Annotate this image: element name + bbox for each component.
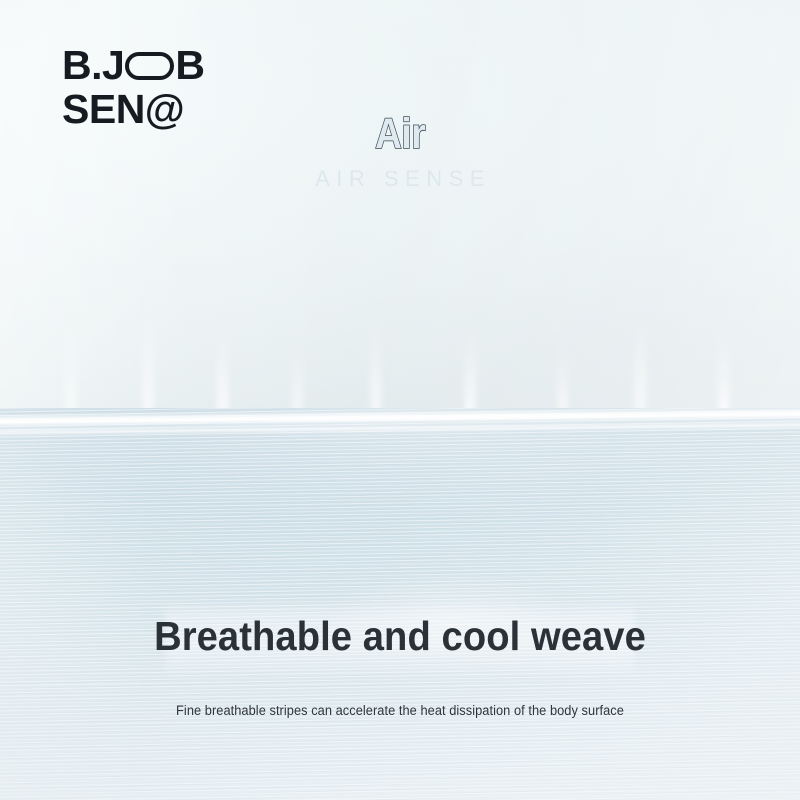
air-brandmark: Air AIR SENSE	[0, 110, 800, 192]
fabric-panel	[0, 408, 800, 800]
brand-logo-text-after: B	[175, 46, 204, 85]
subheadline-text: Fine breathable stripes can accelerate t…	[20, 703, 780, 718]
fabric-stripe-shadow-texture	[0, 408, 800, 800]
brand-logo-line-1: B.J B	[62, 45, 204, 87]
air-brandmark-word-wrap: Air	[0, 110, 800, 159]
brand-logo-pill-o-icon	[125, 52, 174, 80]
air-brandmark-tagline: AIR SENSE	[0, 166, 800, 192]
brand-logo-text-before: B.J	[62, 46, 124, 85]
air-brandmark-word: Air	[375, 110, 425, 159]
headline-text: Breathable and cool weave	[28, 613, 772, 660]
promo-banner: B.J B SEN@ Air AIR SENSE Breathable and …	[0, 0, 800, 800]
